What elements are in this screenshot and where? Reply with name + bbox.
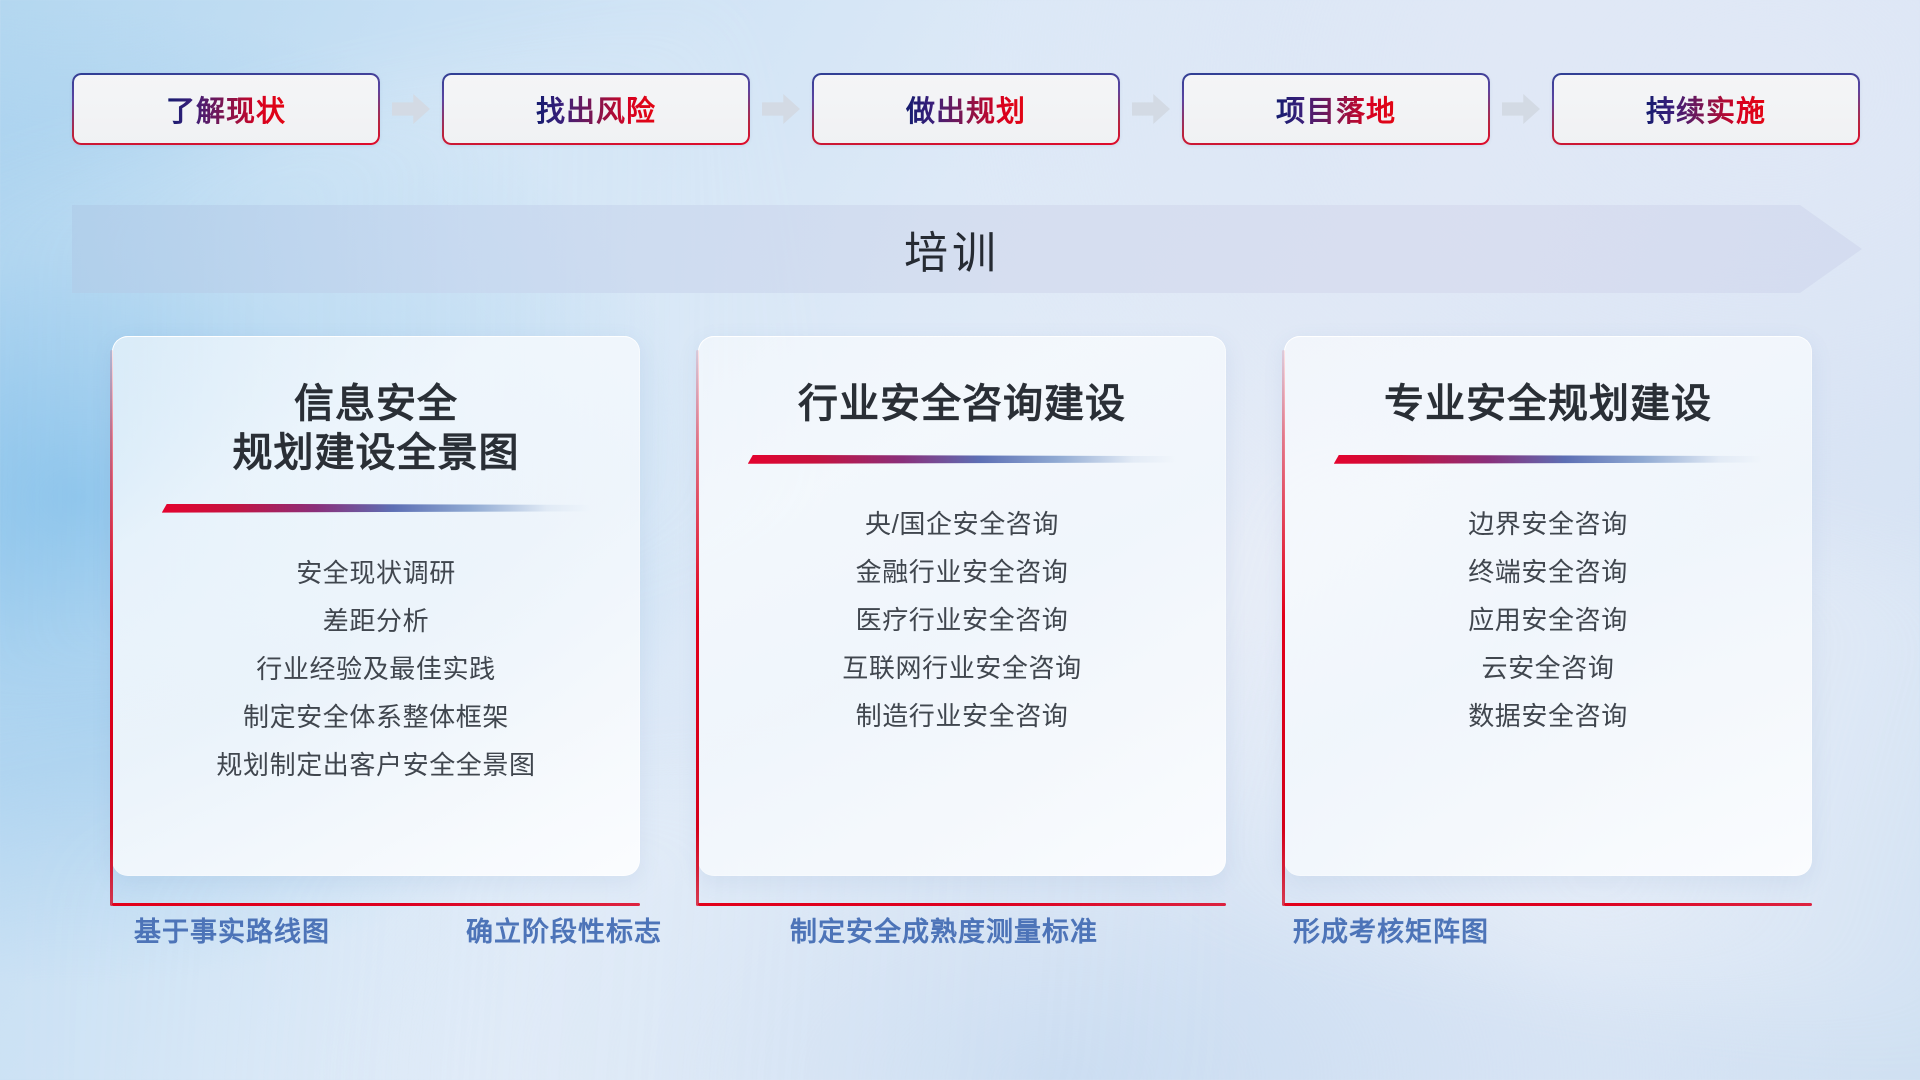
card-item-list: 安全现状调研 差距分析 行业经验及最佳实践 制定安全体系整体框架 规划制定出客户… — [138, 549, 614, 789]
training-banner: 培训 — [72, 205, 1862, 293]
step-chip-5[interactable]: 持续实施 — [1552, 73, 1860, 145]
step-arrow-2 — [750, 73, 812, 145]
list-item: 数据安全咨询 — [1310, 692, 1786, 740]
bottom-captions-row: 基于事实路线图 确立阶段性标志 制定安全成熟度测量标准 形成考核矩阵图 — [0, 910, 1920, 970]
card-title: 专业安全规划建设 — [1310, 380, 1786, 429]
caption-maturity-standard: 制定安全成熟度测量标准 — [790, 910, 1098, 949]
card-item-list: 边界安全咨询 终端安全咨询 应用安全咨询 云安全咨询 数据安全咨询 — [1310, 500, 1786, 740]
list-item: 云安全咨询 — [1310, 644, 1786, 692]
list-item: 制造行业安全咨询 — [724, 692, 1200, 740]
list-item: 行业经验及最佳实践 — [138, 645, 614, 693]
list-item: 应用安全咨询 — [1310, 596, 1786, 644]
step-label-2: 找出风险 — [536, 88, 656, 130]
list-item: 终端安全咨询 — [1310, 548, 1786, 596]
card-bottom-underline — [112, 903, 640, 906]
card-professional-security-planning[interactable]: 专业安全规划建设 边界安全咨询 终端安全咨询 应用安全咨询 云安全咨询 数据安全… — [1284, 336, 1812, 876]
step-chip-4[interactable]: 项目落地 — [1182, 73, 1490, 145]
list-item: 规划制定出客户安全全景图 — [138, 741, 614, 789]
step-chip-3[interactable]: 做出规划 — [812, 73, 1120, 145]
caption-milestones: 确立阶段性标志 — [466, 910, 662, 949]
card-title: 行业安全咨询建设 — [724, 380, 1200, 429]
right-arrow-icon — [1132, 94, 1170, 124]
card-left-accent-bar — [696, 350, 699, 906]
list-item: 差距分析 — [138, 597, 614, 645]
list-item: 互联网行业安全咨询 — [724, 644, 1200, 692]
step-arrow-1 — [380, 73, 442, 145]
card-title: 信息安全 规划建设全景图 — [138, 380, 614, 478]
card-bottom-underline — [698, 903, 1226, 906]
step-chip-2[interactable]: 找出风险 — [442, 73, 750, 145]
step-label-4: 项目落地 — [1276, 88, 1396, 130]
card-left-accent-bar — [1282, 350, 1285, 906]
list-item: 金融行业安全咨询 — [724, 548, 1200, 596]
card-divider — [748, 455, 1176, 464]
right-arrow-icon — [1502, 94, 1540, 124]
card-divider — [1334, 455, 1762, 464]
list-item: 安全现状调研 — [138, 549, 614, 597]
list-item: 央/国企安全咨询 — [724, 500, 1200, 548]
card-industry-security-consulting[interactable]: 行业安全咨询建设 央/国企安全咨询 金融行业安全咨询 医疗行业安全咨询 互联网行… — [698, 336, 1226, 876]
card-item-list: 央/国企安全咨询 金融行业安全咨询 医疗行业安全咨询 互联网行业安全咨询 制造行… — [724, 500, 1200, 740]
list-item: 医疗行业安全咨询 — [724, 596, 1200, 644]
step-label-3: 做出规划 — [906, 88, 1026, 130]
cards-row: 信息安全 规划建设全景图 安全现状调研 差距分析 行业经验及最佳实践 制定安全体… — [112, 336, 1812, 876]
list-item: 边界安全咨询 — [1310, 500, 1786, 548]
process-steps-row: 了解现状 找出风险 做出规划 项目落地 持续实施 — [72, 73, 1848, 145]
training-banner-title: 培训 — [904, 217, 1000, 281]
card-left-accent-bar — [110, 350, 113, 906]
card-information-security-blueprint[interactable]: 信息安全 规划建设全景图 安全现状调研 差距分析 行业经验及最佳实践 制定安全体… — [112, 336, 640, 876]
caption-roadmap: 基于事实路线图 — [134, 910, 330, 949]
caption-assessment-matrix: 形成考核矩阵图 — [1293, 910, 1489, 949]
right-arrow-icon — [762, 94, 800, 124]
step-label-5: 持续实施 — [1646, 88, 1766, 130]
step-label-1: 了解现状 — [166, 88, 286, 130]
step-arrow-3 — [1120, 73, 1182, 145]
card-divider — [162, 504, 590, 513]
list-item: 制定安全体系整体框架 — [138, 693, 614, 741]
step-chip-1[interactable]: 了解现状 — [72, 73, 380, 145]
card-bottom-underline — [1284, 903, 1812, 906]
step-arrow-4 — [1490, 73, 1552, 145]
right-arrow-icon — [392, 94, 430, 124]
